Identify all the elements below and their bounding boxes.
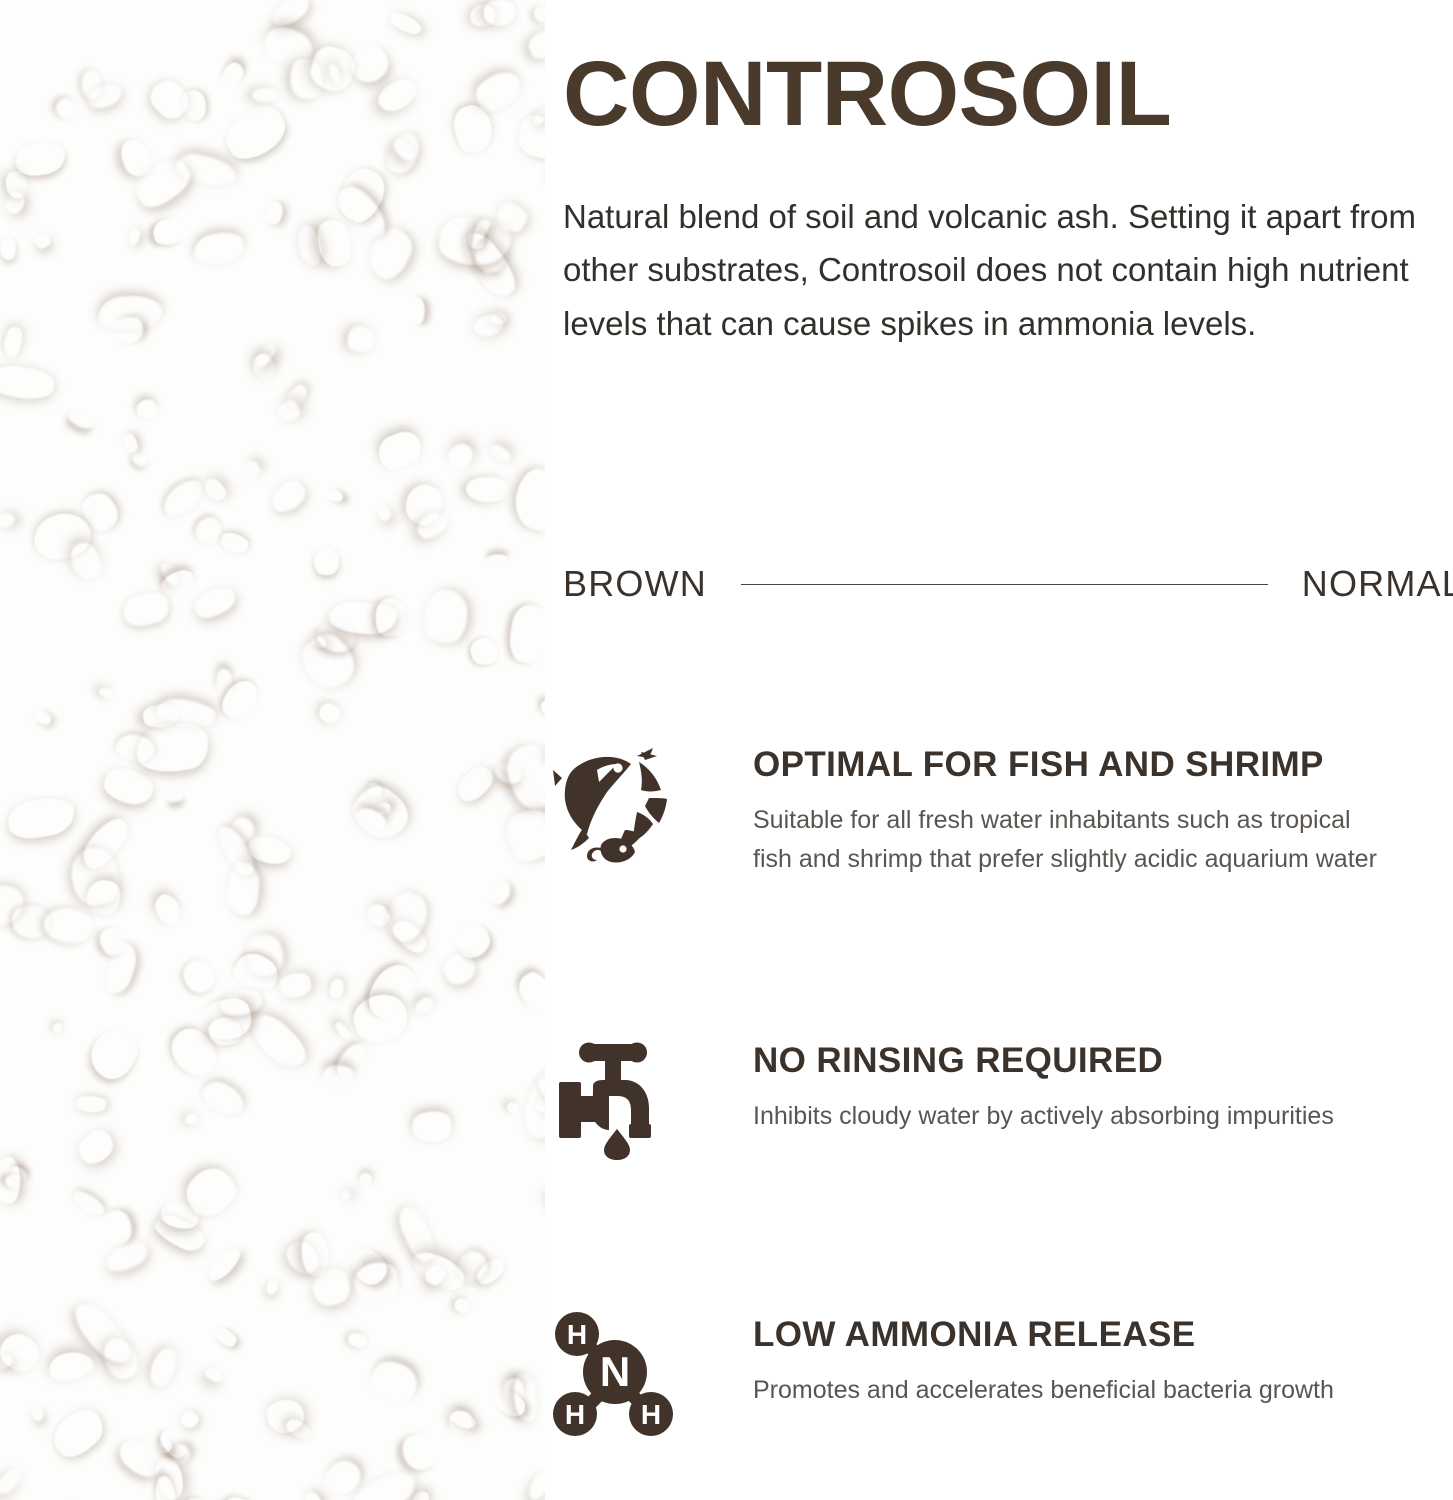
soil-granule — [486, 878, 514, 908]
soil-granule — [167, 791, 184, 803]
soil-granule — [483, 0, 516, 27]
soil-granule — [120, 588, 172, 629]
soil-granule — [267, 0, 314, 32]
soil-granule — [468, 634, 502, 668]
feature-optimal-for-fish-and-shrimp: OPTIMAL FOR FISH AND SHRIMP Suitable for… — [553, 742, 1443, 879]
granule-photo-panel — [0, 0, 545, 1500]
content-panel: CONTROSOIL Natural blend of soil and vol… — [545, 0, 1453, 1500]
soil-granule — [126, 227, 142, 247]
soil-granule — [211, 1324, 238, 1348]
soil-granule — [358, 1172, 373, 1187]
soil-granule — [0, 1328, 46, 1377]
svg-text:N: N — [600, 1348, 630, 1395]
soil-granule — [204, 1243, 245, 1285]
soil-granule — [412, 995, 436, 1017]
soil-granule — [487, 441, 513, 465]
soil-granule — [219, 59, 247, 90]
soil-granule — [243, 1007, 312, 1076]
soil-granule — [1, 325, 24, 358]
product-description: Natural blend of soil and volcanic ash. … — [563, 190, 1443, 350]
soil-granule — [205, 1493, 264, 1500]
soil-granule — [314, 547, 339, 575]
soil-granule — [505, 1100, 521, 1115]
soil-granule-clump — [132, 718, 212, 778]
soil-granule-clump — [411, 1109, 454, 1146]
soil-granule — [32, 232, 52, 251]
ammonia-molecule-icon: H H H N — [553, 1312, 753, 1442]
faucet-drip-icon — [553, 1038, 753, 1168]
svg-text:H: H — [567, 1319, 587, 1350]
soil-granule — [44, 907, 93, 942]
soil-granule — [227, 861, 262, 916]
soil-granule — [6, 793, 78, 842]
soil-granule — [301, 1489, 326, 1500]
soil-granule — [73, 1124, 119, 1169]
soil-granule — [185, 1114, 198, 1125]
soil-granule — [218, 986, 263, 1017]
page-title: CONTROSOIL — [563, 48, 1171, 140]
soil-granule — [266, 1278, 280, 1296]
soil-granule — [0, 1464, 25, 1498]
soil-granule — [328, 977, 345, 999]
soil-granule — [408, 1246, 470, 1296]
soil-granule-clump — [520, 1073, 545, 1141]
soil-granule — [178, 1408, 202, 1432]
soil-granule — [487, 553, 508, 564]
svg-text:H: H — [565, 1399, 585, 1430]
soil-granule — [340, 1190, 352, 1202]
soil-granule — [66, 406, 97, 433]
soil-granule — [466, 476, 510, 502]
feature-text-block: NO RINSING REQUIRED Inhibits cloudy wate… — [753, 1038, 1443, 1136]
soil-granule — [200, 475, 229, 505]
soil-granule — [364, 1354, 423, 1411]
soil-granule — [47, 1349, 96, 1385]
soil-granule — [203, 1364, 225, 1384]
soil-granule — [452, 1297, 470, 1315]
soil-granule — [157, 473, 209, 522]
soil-granule — [301, 1232, 330, 1276]
soil-granule — [149, 890, 186, 929]
svg-text:H: H — [641, 1399, 661, 1430]
soil-granule — [345, 1330, 368, 1349]
soil-granule — [333, 1020, 353, 1041]
variant-divider-rule — [741, 584, 1268, 585]
soil-granule — [509, 464, 545, 535]
soil-granule — [250, 351, 278, 382]
feature-no-rinsing-required: NO RINSING REQUIRED Inhibits cloudy wate… — [553, 1038, 1443, 1168]
soil-granule — [218, 530, 250, 556]
soil-granule — [192, 229, 247, 269]
feature-description: Suitable for all fresh water inhabitants… — [753, 801, 1393, 879]
soil-granule — [525, 1468, 545, 1500]
soil-granule — [264, 200, 285, 226]
variant-color-label: BROWN — [563, 563, 707, 605]
soil-granule — [0, 513, 16, 528]
feature-title: NO RINSING REQUIRED — [753, 1042, 1443, 1081]
variant-size-label: NORMAL — [1302, 563, 1453, 605]
soil-granule-clump — [190, 583, 238, 624]
soil-granule — [346, 324, 377, 355]
soil-granule — [0, 236, 17, 260]
soil-granule-clump — [100, 765, 155, 809]
soil-granule — [98, 685, 116, 700]
soil-granule — [149, 214, 189, 249]
soil-granule — [375, 427, 426, 473]
soil-granule — [51, 1021, 65, 1035]
feature-description: Promotes and accelerates beneficial bact… — [753, 1371, 1443, 1410]
soil-granule — [374, 72, 422, 118]
soil-granule — [506, 602, 545, 666]
soil-granule — [180, 89, 207, 123]
soil-granule-clump — [423, 589, 469, 645]
soil-granule — [374, 504, 392, 523]
soil-granule-clump — [96, 293, 164, 334]
soil-granule — [538, 696, 545, 719]
soil-granule — [197, 1077, 248, 1122]
soil-granule — [397, 1428, 444, 1475]
soil-granule — [29, 1404, 46, 1423]
soil-granule — [316, 700, 344, 727]
feature-title: OPTIMAL FOR FISH AND SHRIMP — [753, 746, 1443, 785]
soil-granule — [277, 971, 313, 1001]
soil-granule — [525, 23, 545, 63]
feature-text-block: LOW AMMONIA RELEASE Promotes and acceler… — [753, 1312, 1443, 1410]
soil-granule — [178, 955, 220, 999]
soil-granule — [324, 487, 345, 504]
soil-granule — [52, 95, 80, 122]
feature-description: Inhibits cloudy water by actively absorb… — [753, 1097, 1443, 1136]
soil-granule-clump — [345, 779, 416, 848]
soil-granule — [445, 439, 477, 472]
soil-granule — [266, 476, 310, 517]
soil-granule — [491, 311, 508, 325]
feature-title: LOW AMMONIA RELEASE — [753, 1316, 1443, 1355]
product-infographic: CONTROSOIL Natural blend of soil and vol… — [0, 0, 1453, 1500]
soil-granule-clump — [500, 802, 545, 866]
soil-granule — [46, 1401, 111, 1465]
soil-granule — [513, 967, 545, 1016]
soil-granule — [145, 1345, 181, 1390]
soil-granule — [83, 1023, 144, 1087]
soil-granule — [344, 39, 394, 89]
soil-granule — [75, 1096, 106, 1113]
soil-granule — [251, 88, 280, 102]
soil-granule — [134, 397, 159, 422]
soil-granule — [217, 98, 293, 168]
soil-granule — [532, 4, 545, 23]
soil-granule-clump — [289, 58, 324, 100]
soil-granule — [0, 363, 55, 402]
variant-row: BROWN NORMAL — [563, 563, 1453, 605]
feature-text-block: OPTIMAL FOR FISH AND SHRIMP Suitable for… — [753, 742, 1443, 879]
soil-granule — [408, 297, 424, 324]
soil-granule — [387, 9, 423, 37]
soil-granule — [32, 708, 53, 727]
feature-low-ammonia-release: H H H N LOW AMMONIA RELEASE Promotes and… — [553, 1312, 1443, 1442]
soil-granule — [13, 139, 67, 178]
soil-granule — [176, 1496, 210, 1500]
soil-granule — [452, 761, 497, 806]
soil-granule — [244, 459, 263, 478]
fish-and-shrimp-icon — [553, 742, 753, 872]
